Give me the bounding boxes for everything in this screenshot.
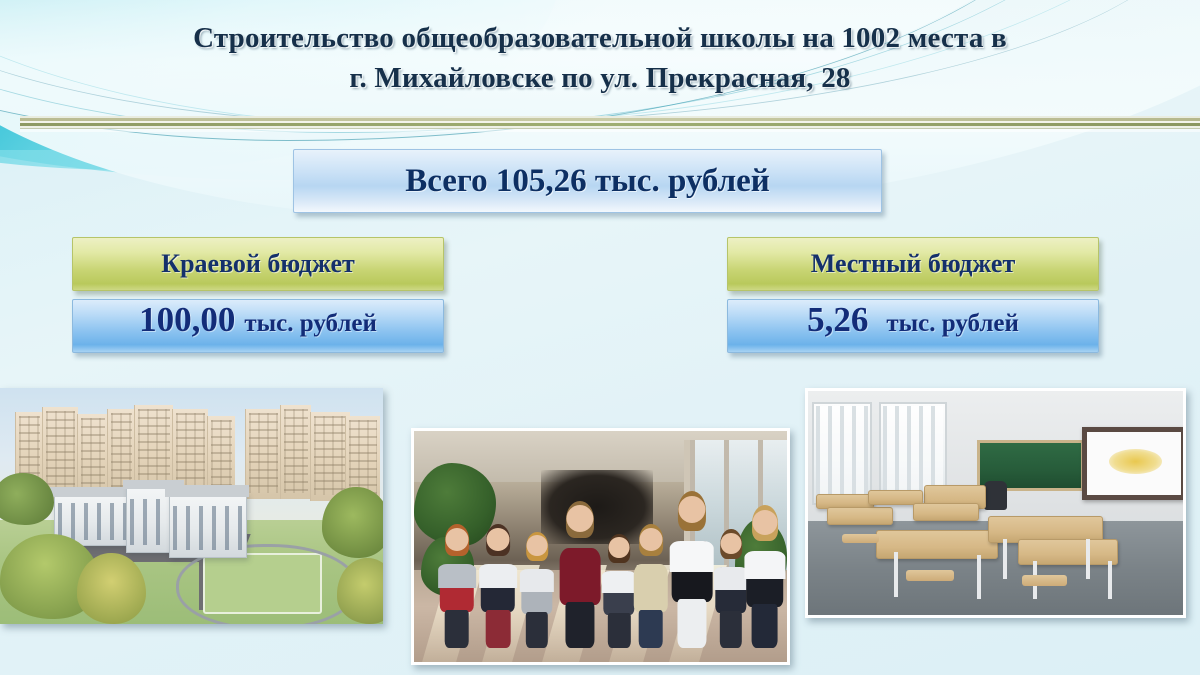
title-line-1: Строительство общеобразовательной школы … xyxy=(60,18,1140,58)
title-line-2: г. Михайловске по ул. Прекрасная, 28 xyxy=(60,58,1140,98)
total-amount-box: Всего 105,26 тыс. рублей xyxy=(293,149,882,213)
budget-header-label-regional: Краевой бюджет xyxy=(161,249,355,279)
budget-card-local: Местный бюджет 5,26 тыс. рублей xyxy=(727,237,1099,353)
budget-unit-local: тыс. рублей xyxy=(886,310,1019,338)
title-divider-rule xyxy=(20,116,1200,132)
budget-unit-regional: тыс. рублей xyxy=(244,310,377,338)
presentation-slide: Строительство общеобразовательной школы … xyxy=(0,0,1200,675)
budget-header-label-local: Местный бюджет xyxy=(811,249,1015,279)
slide-title: Строительство общеобразовательной школы … xyxy=(60,18,1140,98)
total-amount-text: Всего 105,26 тыс. рублей xyxy=(405,163,770,200)
budget-card-regional: Краевой бюджет 100,00 тыс. рублей xyxy=(72,237,444,353)
budget-header-local: Местный бюджет xyxy=(727,237,1099,291)
budget-value-local: 5,26 тыс. рублей xyxy=(727,299,1099,353)
budget-value-regional: 100,00 тыс. рублей xyxy=(72,299,444,353)
photo-school-building-rendering xyxy=(0,388,383,624)
photo-classroom-interior xyxy=(805,388,1186,618)
budget-header-regional: Краевой бюджет xyxy=(72,237,444,291)
budget-amount-regional: 100,00 xyxy=(139,300,235,340)
photo-children-running-corridor xyxy=(411,428,790,665)
budget-amount-local: 5,26 xyxy=(807,300,868,340)
